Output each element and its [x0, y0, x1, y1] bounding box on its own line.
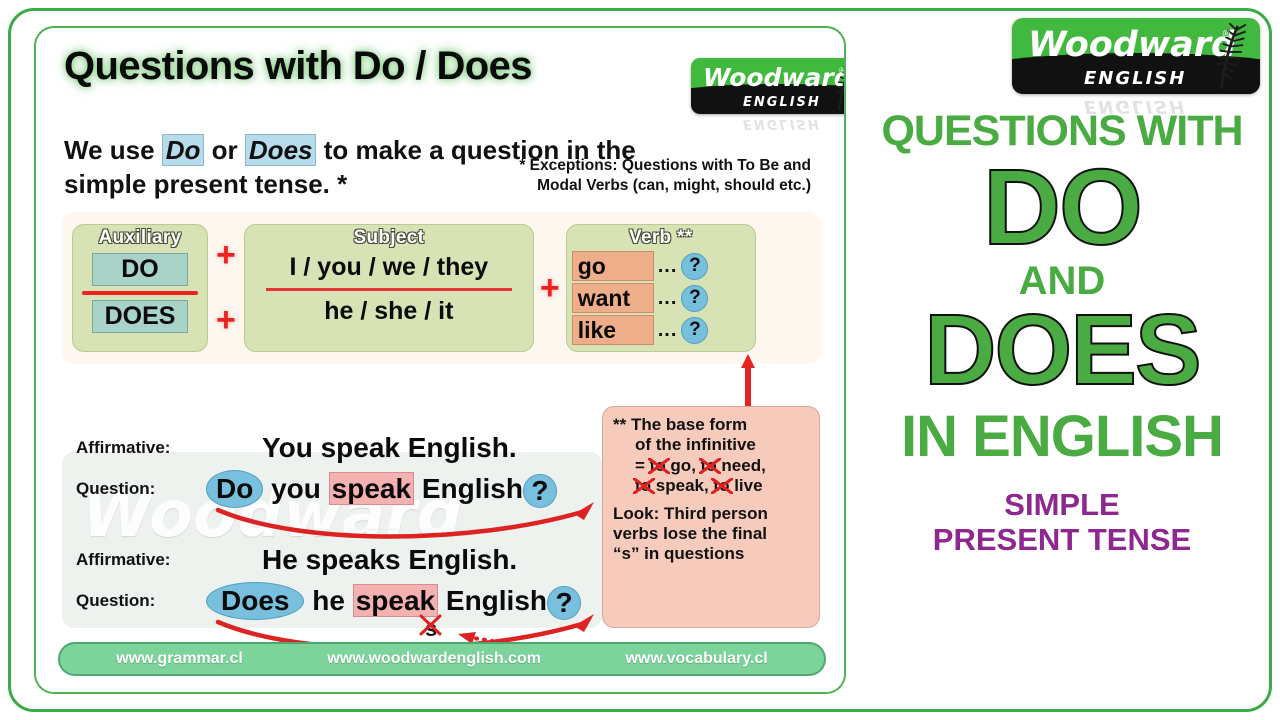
struck-to-4: to: [713, 476, 729, 496]
woodward-logo-large: Woodward ® ENGLISH: [1012, 18, 1260, 94]
example-label: Affirmative:: [76, 438, 206, 458]
intro-part2: or: [204, 135, 244, 165]
example-verb-highlight: speak: [353, 584, 438, 617]
example-verb-highlight: speak: [329, 472, 414, 505]
question-mark-icon: ?: [681, 253, 708, 280]
example-subject: he: [304, 585, 352, 616]
intro-part1: We use: [64, 135, 162, 165]
example-row-affirmative-1: Affirmative: You speak English.: [76, 432, 517, 464]
right-subtitle-line1: SIMPLE: [856, 488, 1268, 523]
struck-to-1: to: [650, 456, 666, 476]
note-l4-end: live: [729, 476, 762, 495]
example-row-question-2: Question: Does he speak English?: [76, 582, 581, 620]
note-l4-mid: speak,: [651, 476, 713, 495]
intro-asterisk: *: [337, 169, 347, 199]
question-mark-icon: ?: [681, 285, 708, 312]
aux-oval-does: Does: [206, 582, 304, 620]
footer-link-woodwardenglish[interactable]: www.woodwardenglish.com: [327, 650, 541, 668]
formula-panel: Auxiliary DO DOES + + Subject I / you / …: [62, 212, 822, 364]
up-arrow-icon: [741, 354, 755, 410]
intro-do-highlight: Do: [162, 134, 205, 166]
example-sentence: He speaks English.: [262, 544, 517, 576]
exceptions-line1: * Exceptions: Questions with To Be and: [441, 156, 811, 176]
note-line-4: to speak, to live: [613, 476, 809, 496]
woodward-logo-small: Woodward ® ENGLISH: [691, 58, 846, 114]
right-subtitle: SIMPLE PRESENT TENSE: [856, 488, 1268, 557]
example-object: English: [414, 473, 523, 504]
question-mark-icon: ?: [681, 317, 708, 344]
struck-to-3: to: [635, 476, 651, 496]
plus-sign-3: +: [534, 269, 566, 308]
registered-icon: ®: [1223, 29, 1230, 40]
right-line-in-english: IN ENGLISH: [856, 409, 1268, 466]
subject-box: Subject I / you / we / they he / she / i…: [244, 224, 534, 352]
note-line-5: Look: Third person: [613, 504, 809, 524]
struck-s-letter: s: [425, 616, 437, 642]
footer-link-grammar[interactable]: www.grammar.cl: [116, 650, 243, 668]
example-label: Affirmative:: [76, 550, 206, 570]
verb-chip: go: [572, 251, 654, 281]
subject-singular: he / she / it: [244, 297, 534, 326]
auxiliary-divider: [82, 291, 198, 295]
exceptions-line2: Modal Verbs (can, might, should etc.): [441, 176, 811, 196]
verb-row: like ... ?: [572, 315, 756, 345]
logo-reflection-small: ENGLISH: [743, 116, 821, 131]
example-row-affirmative-2: Affirmative: He speaks English.: [76, 544, 517, 576]
plus-sign-1: +: [212, 236, 240, 275]
verb-ellipsis: ...: [658, 287, 678, 310]
verb-chip: want: [572, 283, 654, 313]
note-l3-mid: go,: [666, 456, 701, 475]
footer-link-vocabulary[interactable]: www.vocabulary.cl: [625, 650, 767, 668]
struck-to-2: to: [701, 456, 717, 476]
example-object: English: [438, 585, 547, 616]
example-label: Question:: [76, 591, 206, 611]
note-line-6: verbs lose the final: [613, 524, 809, 544]
intro-part4: simple present tense.: [64, 169, 337, 199]
verb-rows: go ... ? want ... ? like ... ?: [566, 249, 756, 345]
auxiliary-do: DO: [92, 253, 188, 286]
note-l3-end: need,: [717, 456, 766, 475]
exceptions-note: * Exceptions: Questions with To Be and M…: [441, 156, 811, 196]
note-line-7: “s” in questions: [613, 544, 809, 564]
intro-does-highlight: Does: [245, 134, 317, 166]
example-row-question-1: Question: Do you speak English?: [76, 470, 557, 508]
page-title: Questions with Do / Does: [64, 44, 532, 89]
note-box: ** The base form of the infinitive = to …: [602, 406, 820, 628]
left-card: Questions with Do / Does Woodward ® ENGL…: [34, 26, 846, 694]
auxiliary-box: Auxiliary DO DOES: [72, 224, 208, 352]
verb-ellipsis: ...: [658, 319, 678, 342]
right-title-panel: QUESTIONS WITH DO AND DOES IN ENGLISH SI…: [856, 110, 1268, 557]
subject-header: Subject: [244, 224, 534, 249]
note-line-1: ** The base form: [613, 415, 809, 435]
note-line-3: = to go, to need,: [613, 456, 809, 476]
plus-sign-2: +: [212, 301, 240, 340]
verb-row: want ... ?: [572, 283, 756, 313]
question-mark-icon: ?: [547, 586, 581, 620]
example-subject: you: [263, 473, 328, 504]
registered-icon: ®: [839, 66, 845, 75]
example-sentence: Does he speak English?: [206, 582, 581, 620]
example-sentence: You speak English.: [262, 432, 517, 464]
right-line-do: DO: [856, 154, 1268, 260]
examples-panel: Woodward Affirmative: You speak English.…: [62, 426, 602, 638]
verb-header: Verb **: [566, 224, 756, 249]
right-line-does: DOES: [856, 301, 1268, 399]
verb-box: Verb ** go ... ? want ... ? like ...: [566, 224, 756, 352]
verb-chip: like: [572, 315, 654, 345]
logo-subtext: ENGLISH: [1084, 68, 1186, 89]
verb-row: go ... ?: [572, 251, 756, 281]
logo-subtext: ENGLISH: [743, 95, 821, 110]
subject-divider: [266, 288, 512, 291]
example-sentence: Do you speak English?: [206, 470, 557, 508]
note-line-2: of the infinitive: [613, 435, 809, 455]
auxiliary-header: Auxiliary: [72, 224, 208, 249]
footer-links-bar: www.grammar.cl www.woodwardenglish.com w…: [58, 642, 826, 676]
plus-column-1: + +: [208, 224, 244, 352]
question-mark-icon: ?: [523, 474, 557, 508]
subject-plural: I / you / we / they: [244, 253, 534, 282]
right-subtitle-line2: PRESENT TENSE: [856, 523, 1268, 558]
infographic-canvas: Questions with Do / Does Woodward ® ENGL…: [0, 0, 1280, 720]
example-label: Question:: [76, 479, 206, 499]
auxiliary-does: DOES: [92, 300, 188, 333]
verb-ellipsis: ...: [658, 255, 678, 278]
aux-oval-do: Do: [206, 470, 263, 508]
